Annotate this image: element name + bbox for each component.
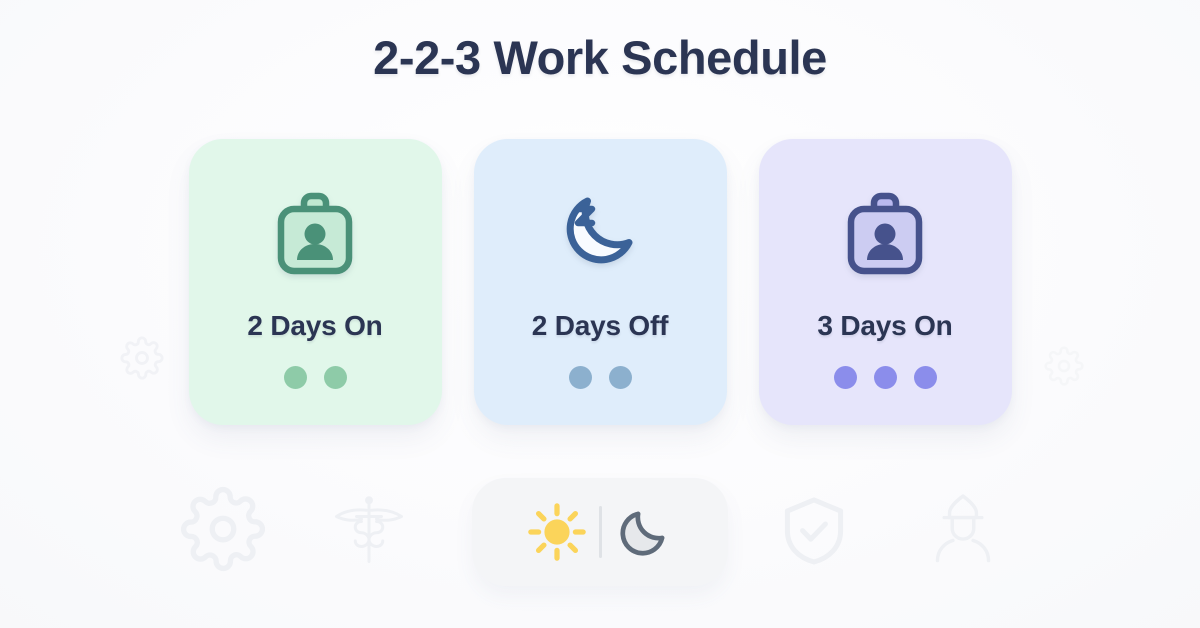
schedule-card-dots <box>834 366 937 389</box>
day-dot <box>609 366 632 389</box>
gear-icon <box>180 486 266 572</box>
schedule-infographic: 2-2-3 Work Schedule 2 Days On <box>0 0 1200 628</box>
sun-icon[interactable] <box>515 501 599 563</box>
schedule-card-label: 3 Days On <box>817 310 952 342</box>
day-dot <box>324 366 347 389</box>
id-badge-icon <box>263 182 367 286</box>
page-title: 2-2-3 Work Schedule <box>0 30 1200 85</box>
schedule-card-dots <box>569 366 632 389</box>
schedule-card-days-on-1[interactable]: 2 Days On <box>189 139 442 425</box>
day-dot <box>569 366 592 389</box>
day-dot <box>874 366 897 389</box>
caduceus-icon <box>329 489 409 569</box>
day-night-toggle[interactable] <box>472 478 728 586</box>
schedule-card-label: 2 Days Off <box>532 310 669 342</box>
schedule-card-dots <box>284 366 347 389</box>
schedule-card-days-on-2[interactable]: 3 Days On <box>759 139 1012 425</box>
id-badge-icon <box>833 182 937 286</box>
moon-sleep-icon <box>548 182 652 286</box>
day-dot <box>284 366 307 389</box>
schedule-cards: 2 Days On 2 Days Off <box>0 139 1200 425</box>
day-dot <box>834 366 857 389</box>
shield-check-icon <box>776 492 852 568</box>
day-dot <box>914 366 937 389</box>
schedule-card-label: 2 Days On <box>247 310 382 342</box>
moon-icon[interactable] <box>602 503 686 561</box>
schedule-card-days-off[interactable]: 2 Days Off <box>474 139 727 425</box>
police-officer-icon <box>920 488 1006 574</box>
